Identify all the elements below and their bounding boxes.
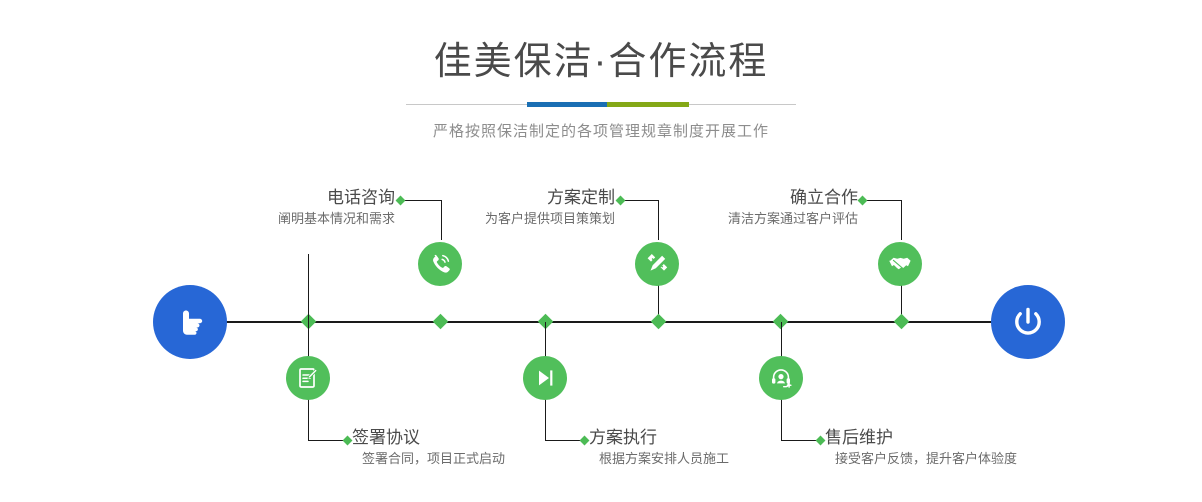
step-desc-4: 根据方案安排人员施工 <box>599 450 839 468</box>
step-node-3[interactable] <box>635 242 679 286</box>
step-desc-6: 接受客户反馈，提升客户体验度 <box>835 450 1095 468</box>
page-title: 佳美保洁·合作流程 <box>0 40 1202 84</box>
page-subtitle: 严格按照保洁制定的各项管理规章制度开展工作 <box>0 120 1202 141</box>
axis-marker-2 <box>433 314 449 330</box>
step-label-6: 售后维护 接受客户反馈，提升客户体验度 <box>825 428 1095 468</box>
step-title-3: 方案定制 <box>370 188 615 208</box>
step-title-2: 签署协议 <box>352 428 602 448</box>
axis-marker-6 <box>894 314 910 330</box>
step-node-6[interactable] <box>759 356 803 400</box>
label-tip-2 <box>343 436 353 446</box>
header: 佳美保洁·合作流程 严格按照保洁制定的各项管理规章制度开展工作 <box>0 0 1202 141</box>
label-tip-5 <box>858 196 868 206</box>
step-label-2: 签署协议 签署合同，项目正式启动 <box>352 428 602 468</box>
step-desc-1: 阐明基本情况和需求 <box>150 210 395 228</box>
power-icon <box>1007 301 1049 343</box>
title-divider <box>406 100 796 110</box>
connector-lead-5 <box>862 200 901 201</box>
step-node-5[interactable] <box>878 242 922 286</box>
connector-riser-5 <box>901 200 902 240</box>
step-desc-5: 清洁方案通过客户评估 <box>610 210 858 228</box>
step-title-5: 确立合作 <box>610 188 858 208</box>
step-title-4: 方案执行 <box>589 428 839 448</box>
flow-diagram-canvas: 佳美保洁·合作流程 严格按照保洁制定的各项管理规章制度开展工作 <box>0 0 1202 502</box>
document-edit-icon <box>295 365 321 391</box>
axis-marker-4 <box>651 314 667 330</box>
play-execute-icon <box>532 365 558 391</box>
headset-support-icon <box>768 365 794 391</box>
step-node-2[interactable] <box>286 356 330 400</box>
step-label-1: 电话咨询 阐明基本情况和需求 <box>150 188 395 228</box>
flow-end-node[interactable] <box>991 285 1065 359</box>
step-label-4: 方案执行 根据方案安排人员施工 <box>589 428 839 468</box>
step-label-3: 方案定制 为客户提供项目策策划 <box>370 188 615 228</box>
step-desc-2: 签署合同，项目正式启动 <box>362 450 602 468</box>
step-title-6: 售后维护 <box>825 428 1095 448</box>
step-title-1: 电话咨询 <box>150 188 395 208</box>
handshake-icon <box>887 251 913 277</box>
step-node-1[interactable] <box>418 242 462 286</box>
connector-vertical-1 <box>308 254 309 322</box>
flow-start-node[interactable] <box>153 285 227 359</box>
step-label-5: 确立合作 清洁方案通过客户评估 <box>610 188 858 228</box>
divider-segment-blue <box>527 102 607 107</box>
pencil-ruler-icon <box>644 251 670 277</box>
phone-call-icon <box>427 251 453 277</box>
step-node-4[interactable] <box>523 356 567 400</box>
step-desc-3: 为客户提供项目策策划 <box>370 210 615 228</box>
pointing-hand-icon <box>170 302 210 342</box>
divider-segment-green <box>607 102 689 107</box>
